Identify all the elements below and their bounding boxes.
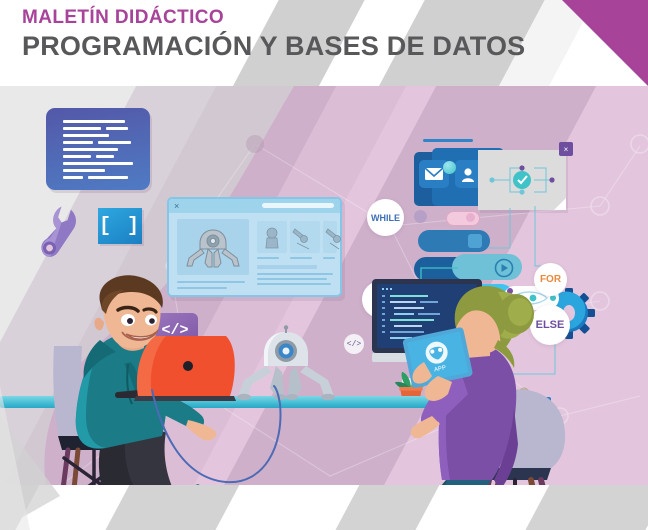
footer-strip [0,485,648,530]
poster-header: MALETÍN DIDÁCTICO PROGRAMACIÓN Y BASES D… [0,0,648,86]
play-icon[interactable] [494,258,514,278]
poster-kicker: MALETÍN DIDÁCTICO [22,8,525,28]
ui-row-1-icon [468,234,482,248]
header-corner-triangle [562,0,648,86]
flow-popup-card[interactable]: × [478,150,566,210]
ui-toggle-knob[interactable] [466,213,475,222]
poster-container: MALETÍN DIDÁCTICO PROGRAMACIÓN Y BASES D… [0,0,648,530]
page-title: PROGRAMACIÓN Y BASES DE DATOS [22,32,525,62]
close-icon[interactable]: × [174,202,179,211]
keyword-bubble-while: WHILE [367,199,404,236]
code-badge-mini: </> [344,334,364,354]
ui-toggle-pill[interactable] [446,211,480,226]
robot-illustration-icon [181,225,245,271]
browser-url-bar[interactable] [262,203,334,208]
ui-globe-icon [414,210,427,223]
close-icon[interactable]: × [559,142,573,156]
ui-badge-dot [443,161,456,174]
flow-diagram [478,150,566,210]
bracket-badge: [ ] [98,208,142,244]
code-window [46,108,150,190]
wrench-icon [38,204,84,270]
browser-thumbnail-icons [259,223,339,253]
header-text-group: MALETÍN DIDÁCTICO PROGRAMACIÓN Y BASES D… [22,8,525,62]
illustration-stage: [ ] × [0,86,648,530]
ui-top-bar [423,139,473,142]
